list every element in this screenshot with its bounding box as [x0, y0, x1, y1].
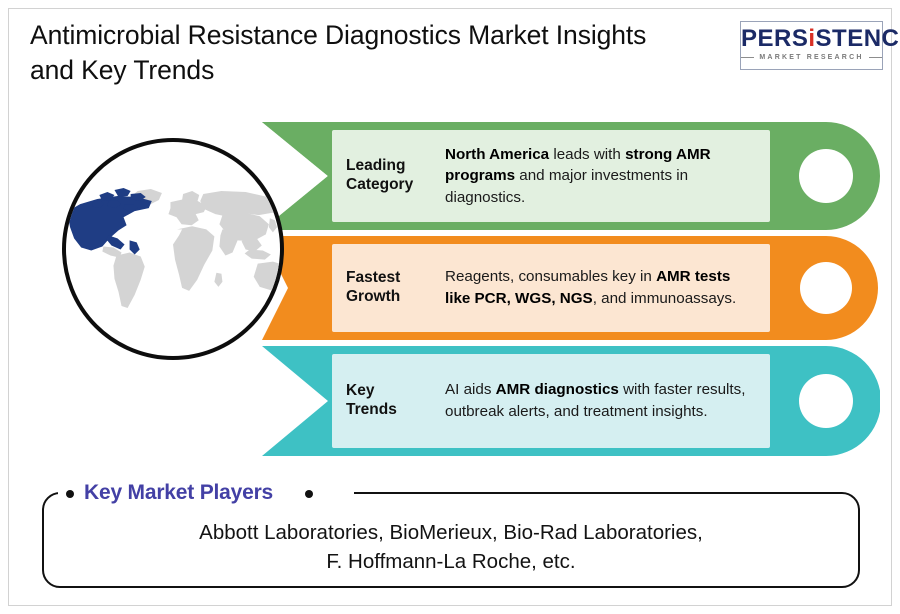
logo-word-part2: STENCE [816, 25, 900, 52]
row-leading-label-line2: Category [346, 176, 437, 195]
logo-word-part1: PERS [741, 25, 808, 52]
logo-word-accent-i: i [808, 25, 815, 52]
row-leading-category[interactable]: Leading Category North America leads wit… [262, 122, 880, 230]
row-trends-label-line2: Trends [346, 401, 437, 420]
row-leading-content: Leading Category North America leads wit… [332, 130, 770, 222]
row-fastest-label: Fastest Growth [332, 269, 437, 307]
row-fastest-label-line2: Growth [346, 288, 437, 307]
row-fastest-growth[interactable]: Fastest Growth Reagents, consumables key… [262, 236, 880, 340]
row-leading-label: Leading Category [332, 157, 437, 195]
row-key-trends[interactable]: Key Trends AI aids AMR diagnostics with … [262, 346, 880, 456]
world-map-icon [62, 186, 284, 314]
infographic-canvas: Antimicrobial Resistance Diagnostics Mar… [0, 0, 900, 614]
brand-logo: PERSiSTENCE MARKET RESEARCH [740, 21, 883, 70]
key-market-players-list: Abbott Laboratories, BioMerieux, Bio-Rad… [52, 518, 850, 576]
logo-dash-right-icon [869, 57, 882, 58]
row-leading-label-line1: Leading [346, 157, 437, 176]
row-leading-description: North America leads with strong AMR prog… [437, 144, 770, 209]
bullet-dot-left-icon [66, 490, 74, 498]
row-trends-label: Key Trends [332, 382, 437, 420]
key-market-players-line2: F. Hoffmann-La Roche, etc. [52, 547, 850, 576]
logo-subtitle-row: MARKET RESEARCH [741, 54, 882, 61]
row-trends-description: AI aids AMR diagnostics with faster resu… [437, 379, 770, 422]
row-fastest-description: Reagents, consumables key in AMR tests l… [437, 266, 770, 309]
row-trends-label-line1: Key [346, 382, 437, 401]
row-fastest-label-line1: Fastest [346, 269, 437, 288]
key-market-players-title: Key Market Players [84, 481, 273, 505]
logo-dash-left-icon [741, 57, 754, 58]
row-trends-content: Key Trends AI aids AMR diagnostics with … [332, 354, 770, 448]
logo-subtitle: MARKET RESEARCH [759, 54, 863, 61]
logo-wordmark: PERSiSTENCE [741, 25, 882, 53]
row-fastest-content: Fastest Growth Reagents, consumables key… [332, 244, 770, 332]
world-map-circle [62, 138, 284, 360]
key-market-players-line1: Abbott Laboratories, BioMerieux, Bio-Rad… [52, 518, 850, 547]
page-title: Antimicrobial Resistance Diagnostics Mar… [30, 18, 670, 88]
bullet-dot-right-icon [305, 490, 313, 498]
